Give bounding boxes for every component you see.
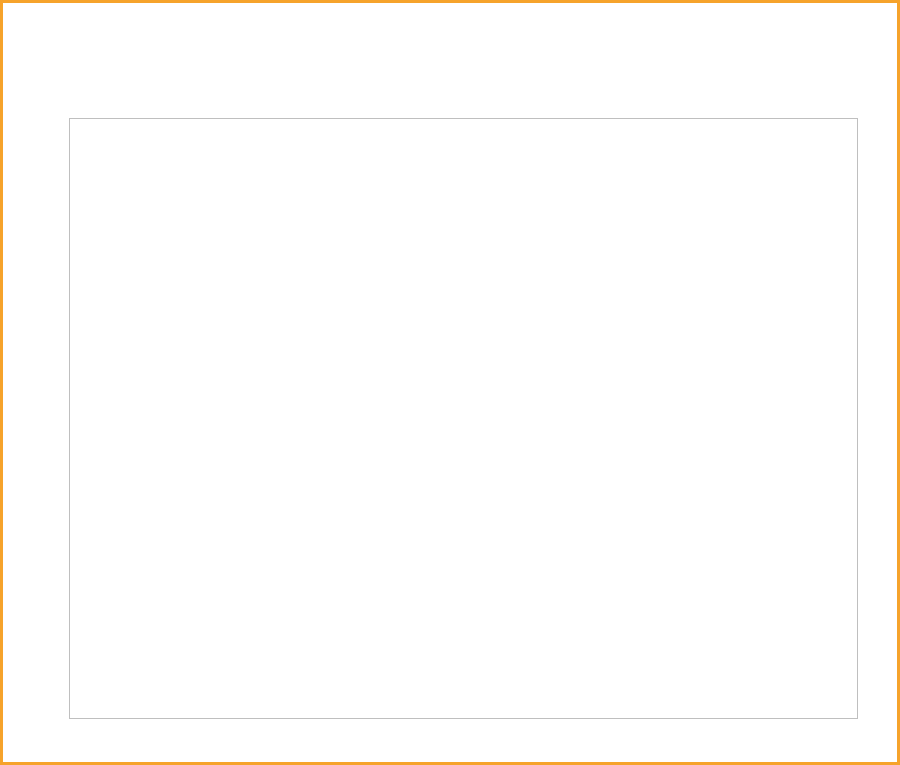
legend-swatch-screen-flicker bbox=[526, 149, 536, 159]
chart-legend bbox=[483, 143, 541, 165]
y-axis bbox=[11, 3, 61, 765]
chart-plot-area bbox=[69, 118, 858, 719]
legend-swatch-black-frame-insertion bbox=[483, 149, 493, 159]
page-root bbox=[0, 0, 900, 765]
legend-item-0[interactable] bbox=[483, 149, 498, 159]
header bbox=[3, 3, 900, 115]
legend-item-1[interactable] bbox=[526, 149, 541, 159]
oscilloscope-waveform-canvas bbox=[70, 119, 857, 718]
site-logo[interactable] bbox=[735, 7, 885, 8]
